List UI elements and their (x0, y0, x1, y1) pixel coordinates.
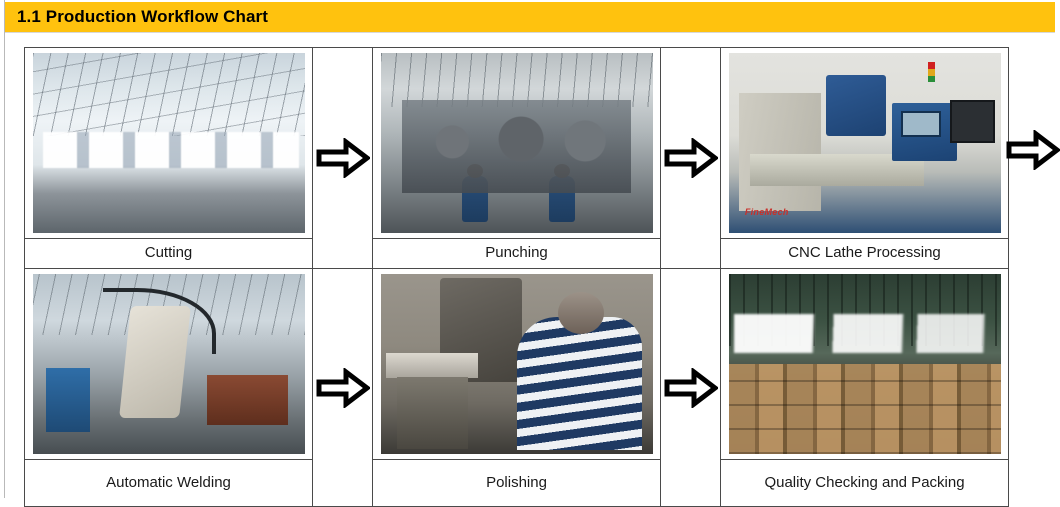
photo-cell-welding (25, 269, 313, 460)
arrow-cell-3 (313, 269, 373, 507)
section-header-bar: 1.1 Production Workflow Chart (5, 2, 1055, 32)
arrow-right-icon (1004, 130, 1060, 170)
arrow-cell-1 (313, 48, 373, 269)
table-row-captions-2: Automatic Welding Polishing Quality Chec… (25, 460, 1009, 507)
warehouse-packing-photo (729, 274, 1001, 454)
punching-press-line-photo (381, 53, 653, 233)
caption-cutting: Cutting (25, 239, 313, 269)
caption-polishing: Polishing (373, 460, 661, 507)
table-row-photos-2 (25, 269, 1009, 460)
cnc-brand-label: FineMech (745, 207, 789, 217)
table-row-captions-1: Cutting Punching CNC Lathe Processing (25, 239, 1009, 269)
arrow-right-icon (664, 138, 718, 178)
arrow-right-icon (664, 368, 718, 408)
caption-cnc-lathe-processing: CNC Lathe Processing (721, 239, 1009, 269)
photo-cell-cnc: FineMech (721, 48, 1009, 239)
arrow-right-icon (316, 138, 370, 178)
header-underline-divider (5, 32, 1055, 33)
arrow-right-icon (316, 368, 370, 408)
arrow-cell-trailing (1003, 130, 1060, 174)
arrow-cell-2 (661, 48, 721, 269)
caption-quality-checking-and-packing: Quality Checking and Packing (721, 460, 1009, 507)
left-margin-rail (0, 0, 5, 498)
welding-robot-photo (33, 274, 305, 454)
table-row-photos-1: FineMech (25, 48, 1009, 239)
photo-cell-cutting (25, 48, 313, 239)
production-workflow-table: FineMech Cutting Punching CNC Lathe Proc… (24, 47, 1009, 507)
photo-cell-punching (373, 48, 661, 239)
factory-cutting-hall-photo (33, 53, 305, 233)
arrow-cell-4 (661, 269, 721, 507)
polishing-worker-photo (381, 274, 653, 454)
caption-punching: Punching (373, 239, 661, 269)
caption-automatic-welding: Automatic Welding (25, 460, 313, 507)
photo-cell-polishing (373, 269, 661, 460)
cnc-lathe-machine-photo: FineMech (729, 53, 1001, 233)
photo-cell-warehouse (721, 269, 1009, 460)
page-title: 1.1 Production Workflow Chart (17, 7, 268, 27)
